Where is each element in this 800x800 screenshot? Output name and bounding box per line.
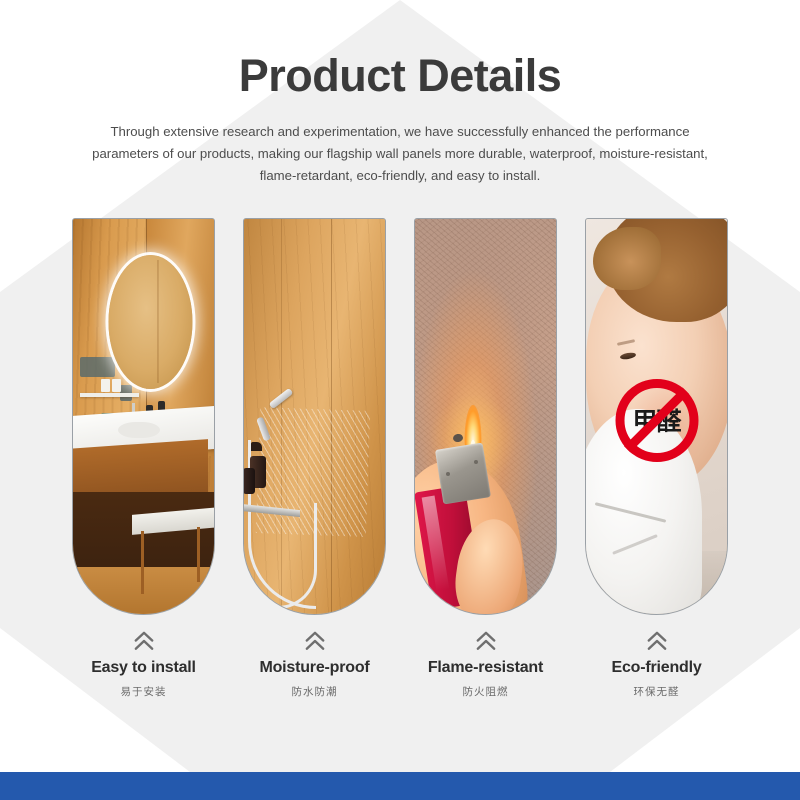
- feature-label-cn: 易于安装: [72, 684, 215, 699]
- page-title: Product Details: [0, 0, 800, 99]
- baby-no-formaldehyde-photo: 甲醛: [586, 219, 727, 614]
- double-chevron-up-icon: [475, 631, 497, 651]
- no-formaldehyde-sign-icon: 甲醛: [615, 379, 698, 462]
- feature-label-cn: 环保无醛: [585, 684, 728, 699]
- feature-photo-eco-friendly: 甲醛: [585, 218, 728, 615]
- double-chevron-up-icon: [304, 631, 326, 651]
- feature-label: Moisture-proof: [243, 659, 386, 677]
- feature-item-eco-friendly[interactable]: 甲醛 Eco-friendly 环保无醛: [585, 218, 728, 699]
- feature-item-easy-to-install[interactable]: Easy to install 易于安装: [72, 218, 215, 699]
- feature-photo-easy-to-install: [72, 218, 215, 615]
- product-details-page: Product Details Through extensive resear…: [0, 0, 800, 800]
- feature-label: Eco-friendly: [585, 659, 728, 677]
- double-chevron-up-icon: [133, 631, 155, 651]
- page-header: Product Details Through extensive resear…: [0, 0, 800, 187]
- bathroom-photo: [73, 219, 214, 614]
- feature-photo-flame-resistant: [414, 218, 557, 615]
- double-chevron-up-icon: [646, 631, 668, 651]
- page-subtitle: Through extensive research and experimen…: [90, 99, 710, 187]
- feature-label: Flame-resistant: [414, 659, 557, 677]
- feature-item-moisture-proof[interactable]: Moisture-proof 防水防潮: [243, 218, 386, 699]
- feature-label: Easy to install: [72, 659, 215, 677]
- feature-photo-moisture-proof: [243, 218, 386, 615]
- feature-list: Easy to install 易于安装: [72, 218, 728, 699]
- bottom-accent-bar: [0, 772, 800, 800]
- lighter-flame-photo: [415, 219, 556, 614]
- feature-item-flame-resistant[interactable]: Flame-resistant 防火阻燃: [414, 218, 557, 699]
- feature-label-cn: 防火阻燃: [414, 684, 557, 699]
- feature-label-cn: 防水防潮: [243, 684, 386, 699]
- shower-photo: [244, 219, 385, 614]
